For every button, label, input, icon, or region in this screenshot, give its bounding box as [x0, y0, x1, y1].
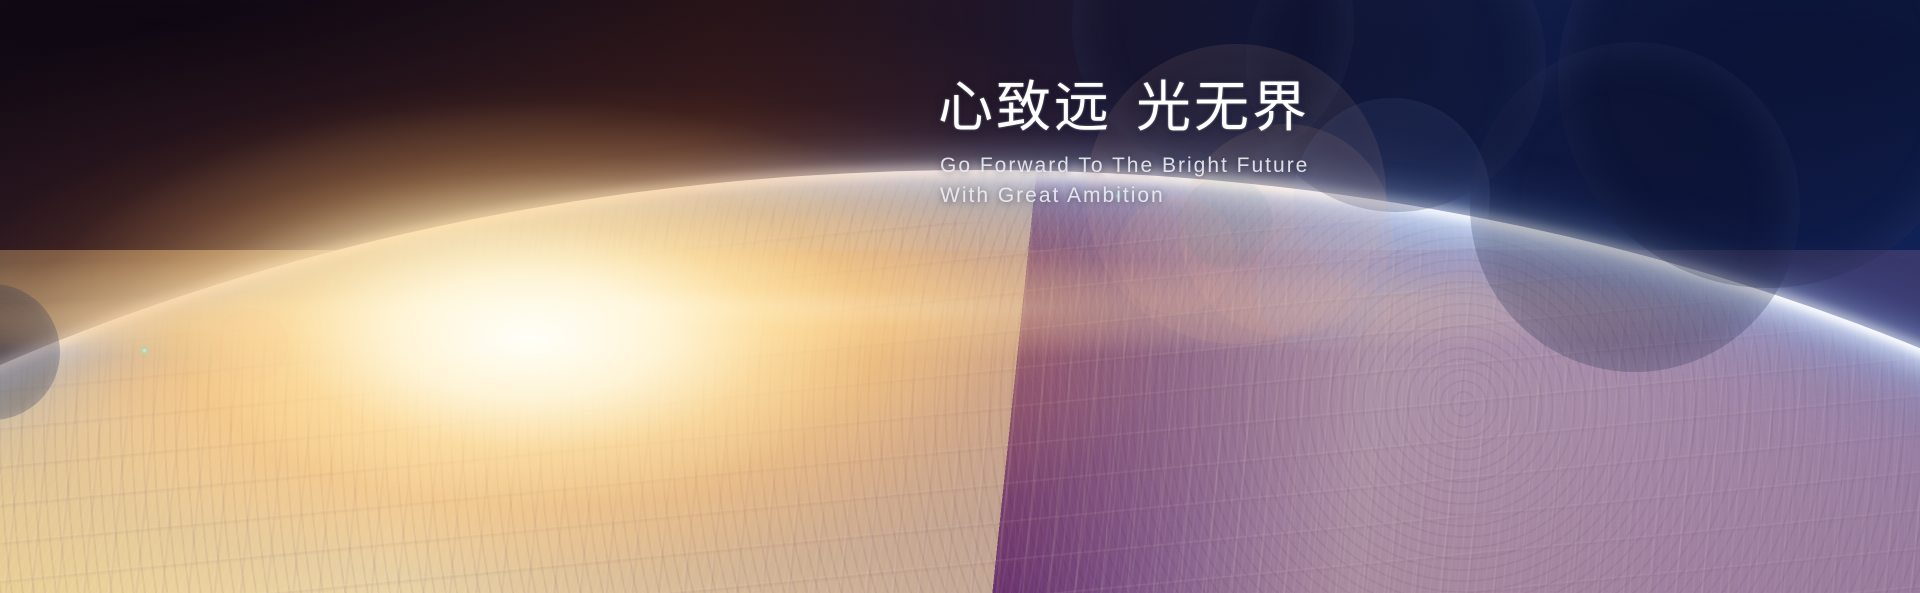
lens-flare-disc-left-warm	[214, 308, 288, 382]
hero-text-block: 心致远光无界 Go Forward To The Bright Future W…	[938, 78, 1698, 211]
lens-flare-disc-cool-small	[1256, 222, 1384, 350]
hero-subheadline-line-1: Go Forward To The Bright Future	[940, 151, 1698, 181]
lens-flare-sparkle-left	[140, 346, 149, 355]
hero-subheadline: Go Forward To The Bright Future With Gre…	[940, 151, 1698, 211]
hero-headline-part-1: 心致远	[938, 75, 1112, 139]
hero-headline-part-2: 光无界	[1136, 75, 1310, 139]
hero-headline: 心致远光无界	[938, 78, 1698, 137]
hero-subheadline-line-2: With Great Ambition	[940, 181, 1698, 211]
hero-banner: 心致远光无界 Go Forward To The Bright Future W…	[0, 0, 1920, 593]
